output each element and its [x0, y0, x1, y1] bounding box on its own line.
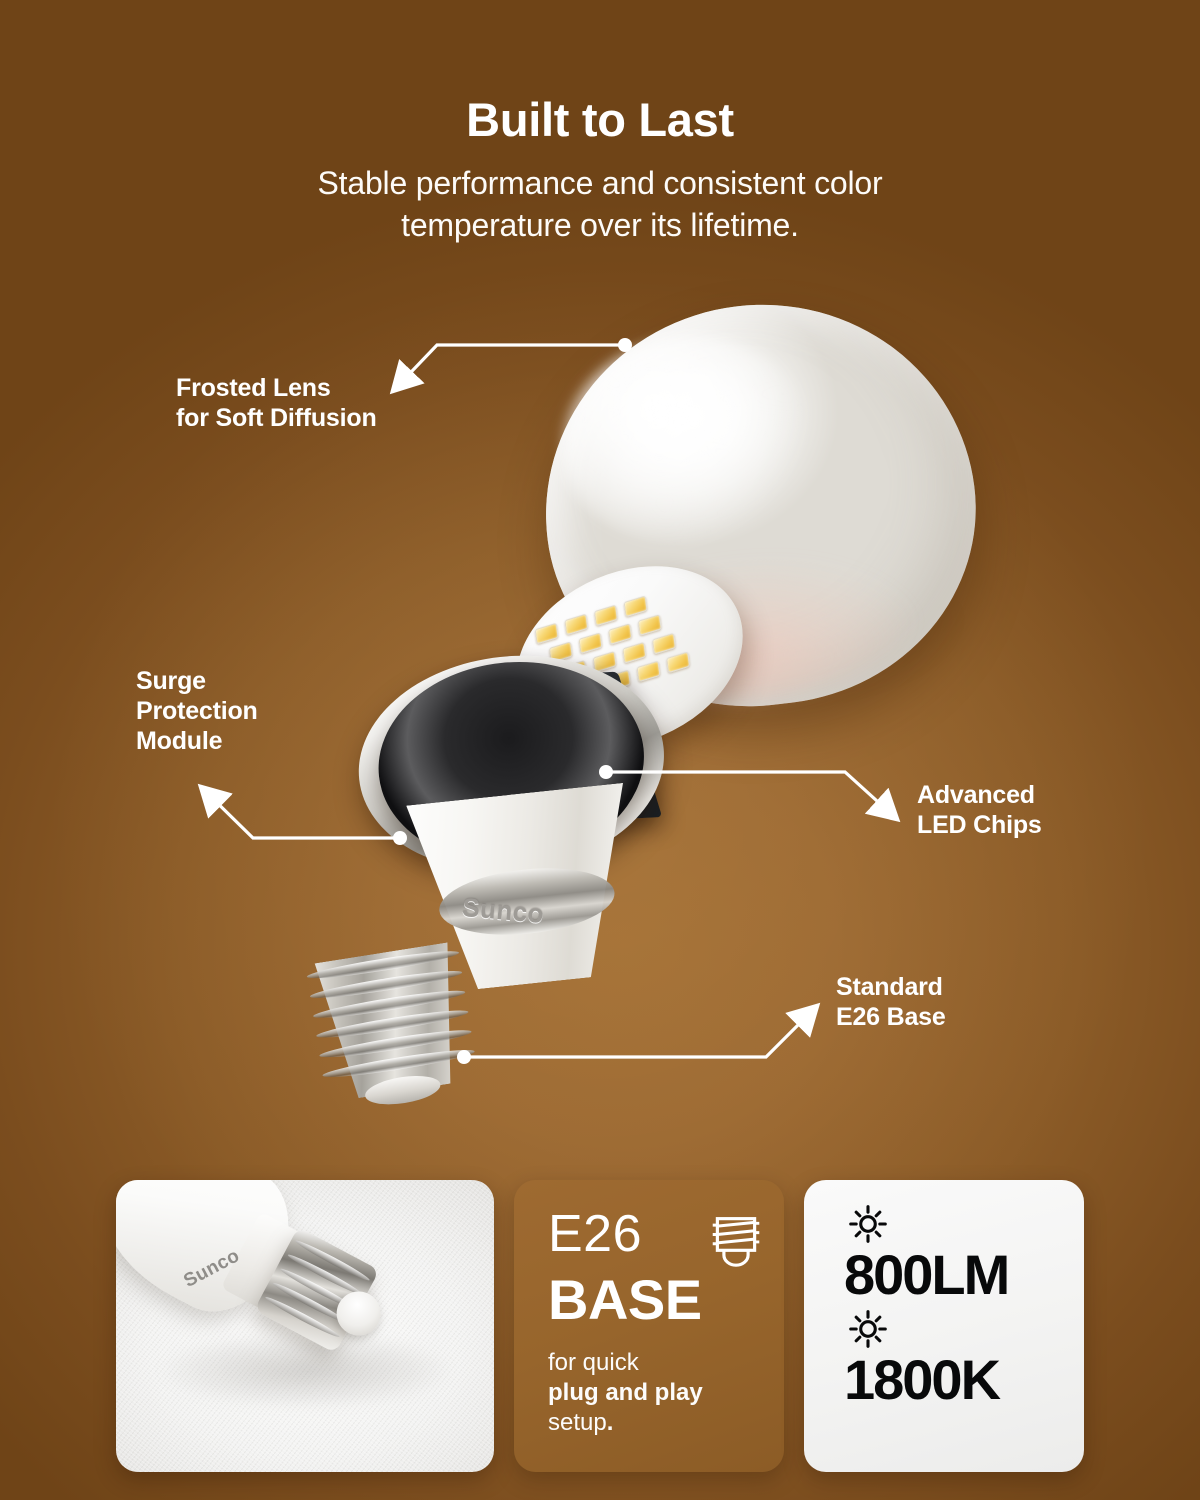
callout-surge-line-1: Surge [136, 666, 258, 696]
e26-sub-line-2: plug and play [548, 1379, 703, 1406]
callout-e26-line-2: E26 Base [836, 1002, 946, 1032]
spec-kelvin-value: 1800K [844, 1351, 1008, 1408]
callout-led-line-2: LED Chips [917, 810, 1042, 840]
e26-code: E26 [548, 1210, 642, 1260]
sun-icon [848, 1309, 888, 1349]
leader-surge-protection [200, 786, 400, 838]
card-bulb-photo: Sunco [116, 1180, 494, 1472]
infographic-stage: Built to Last Stable performance and con… [0, 0, 1200, 1500]
e26-headline-row: E26 [548, 1210, 764, 1268]
callout-surge-line-2: Protection [136, 696, 258, 726]
screw-base-icon [708, 1214, 764, 1268]
callout-frosted-lens-line-1: Frosted Lens [176, 373, 377, 403]
callout-surge-line-3: Module [136, 726, 258, 756]
leader-frosted-lens [392, 345, 625, 392]
e26-base-word: BASE [548, 1272, 764, 1328]
spec-lumens-value: 800LM [844, 1246, 1008, 1303]
e26-sub-line-1: for quick [548, 1348, 764, 1378]
feature-cards: Sunco E26 [0, 1170, 1200, 1500]
callout-label-standard-e26-base: Standard E26 Base [836, 972, 946, 1032]
leader-advanced-led-chips [606, 772, 898, 820]
sun-icon [848, 1204, 888, 1244]
callout-label-surge-protection: Surge Protection Module [136, 666, 258, 756]
subtitle-line-1: Stable performance and consistent color [318, 165, 883, 201]
callout-label-frosted-lens: Frosted Lens for Soft Diffusion [176, 373, 377, 433]
leader-standard-e26-base [464, 1005, 818, 1057]
callout-e26-line-1: Standard [836, 972, 946, 1002]
page-title: Built to Last [0, 0, 1200, 143]
e26-card-content: E26 BASE [548, 1210, 764, 1439]
card-e26-base: E26 BASE [514, 1180, 784, 1472]
subtitle-line-2: temperature over its lifetime. [0, 205, 1200, 247]
callout-led-line-1: Advanced [917, 780, 1042, 810]
header: Built to Last Stable performance and con… [0, 0, 1200, 246]
callout-frosted-lens-line-2: for Soft Diffusion [176, 403, 377, 433]
e26-subtext: for quick plug and play setup. [548, 1348, 764, 1439]
card-specifications: 800LM [804, 1180, 1084, 1472]
spec-row-kelvin: 1800K [844, 1309, 1008, 1408]
spec-row-lumens: 800LM [844, 1204, 1008, 1303]
spec-card-content: 800LM [844, 1204, 1008, 1414]
page-subtitle: Stable performance and consistent color … [0, 143, 1200, 246]
callout-label-advanced-led-chips: Advanced LED Chips [917, 780, 1042, 840]
e26-sub-period: . [607, 1409, 614, 1436]
e26-sub-line-3: setup [548, 1409, 607, 1436]
